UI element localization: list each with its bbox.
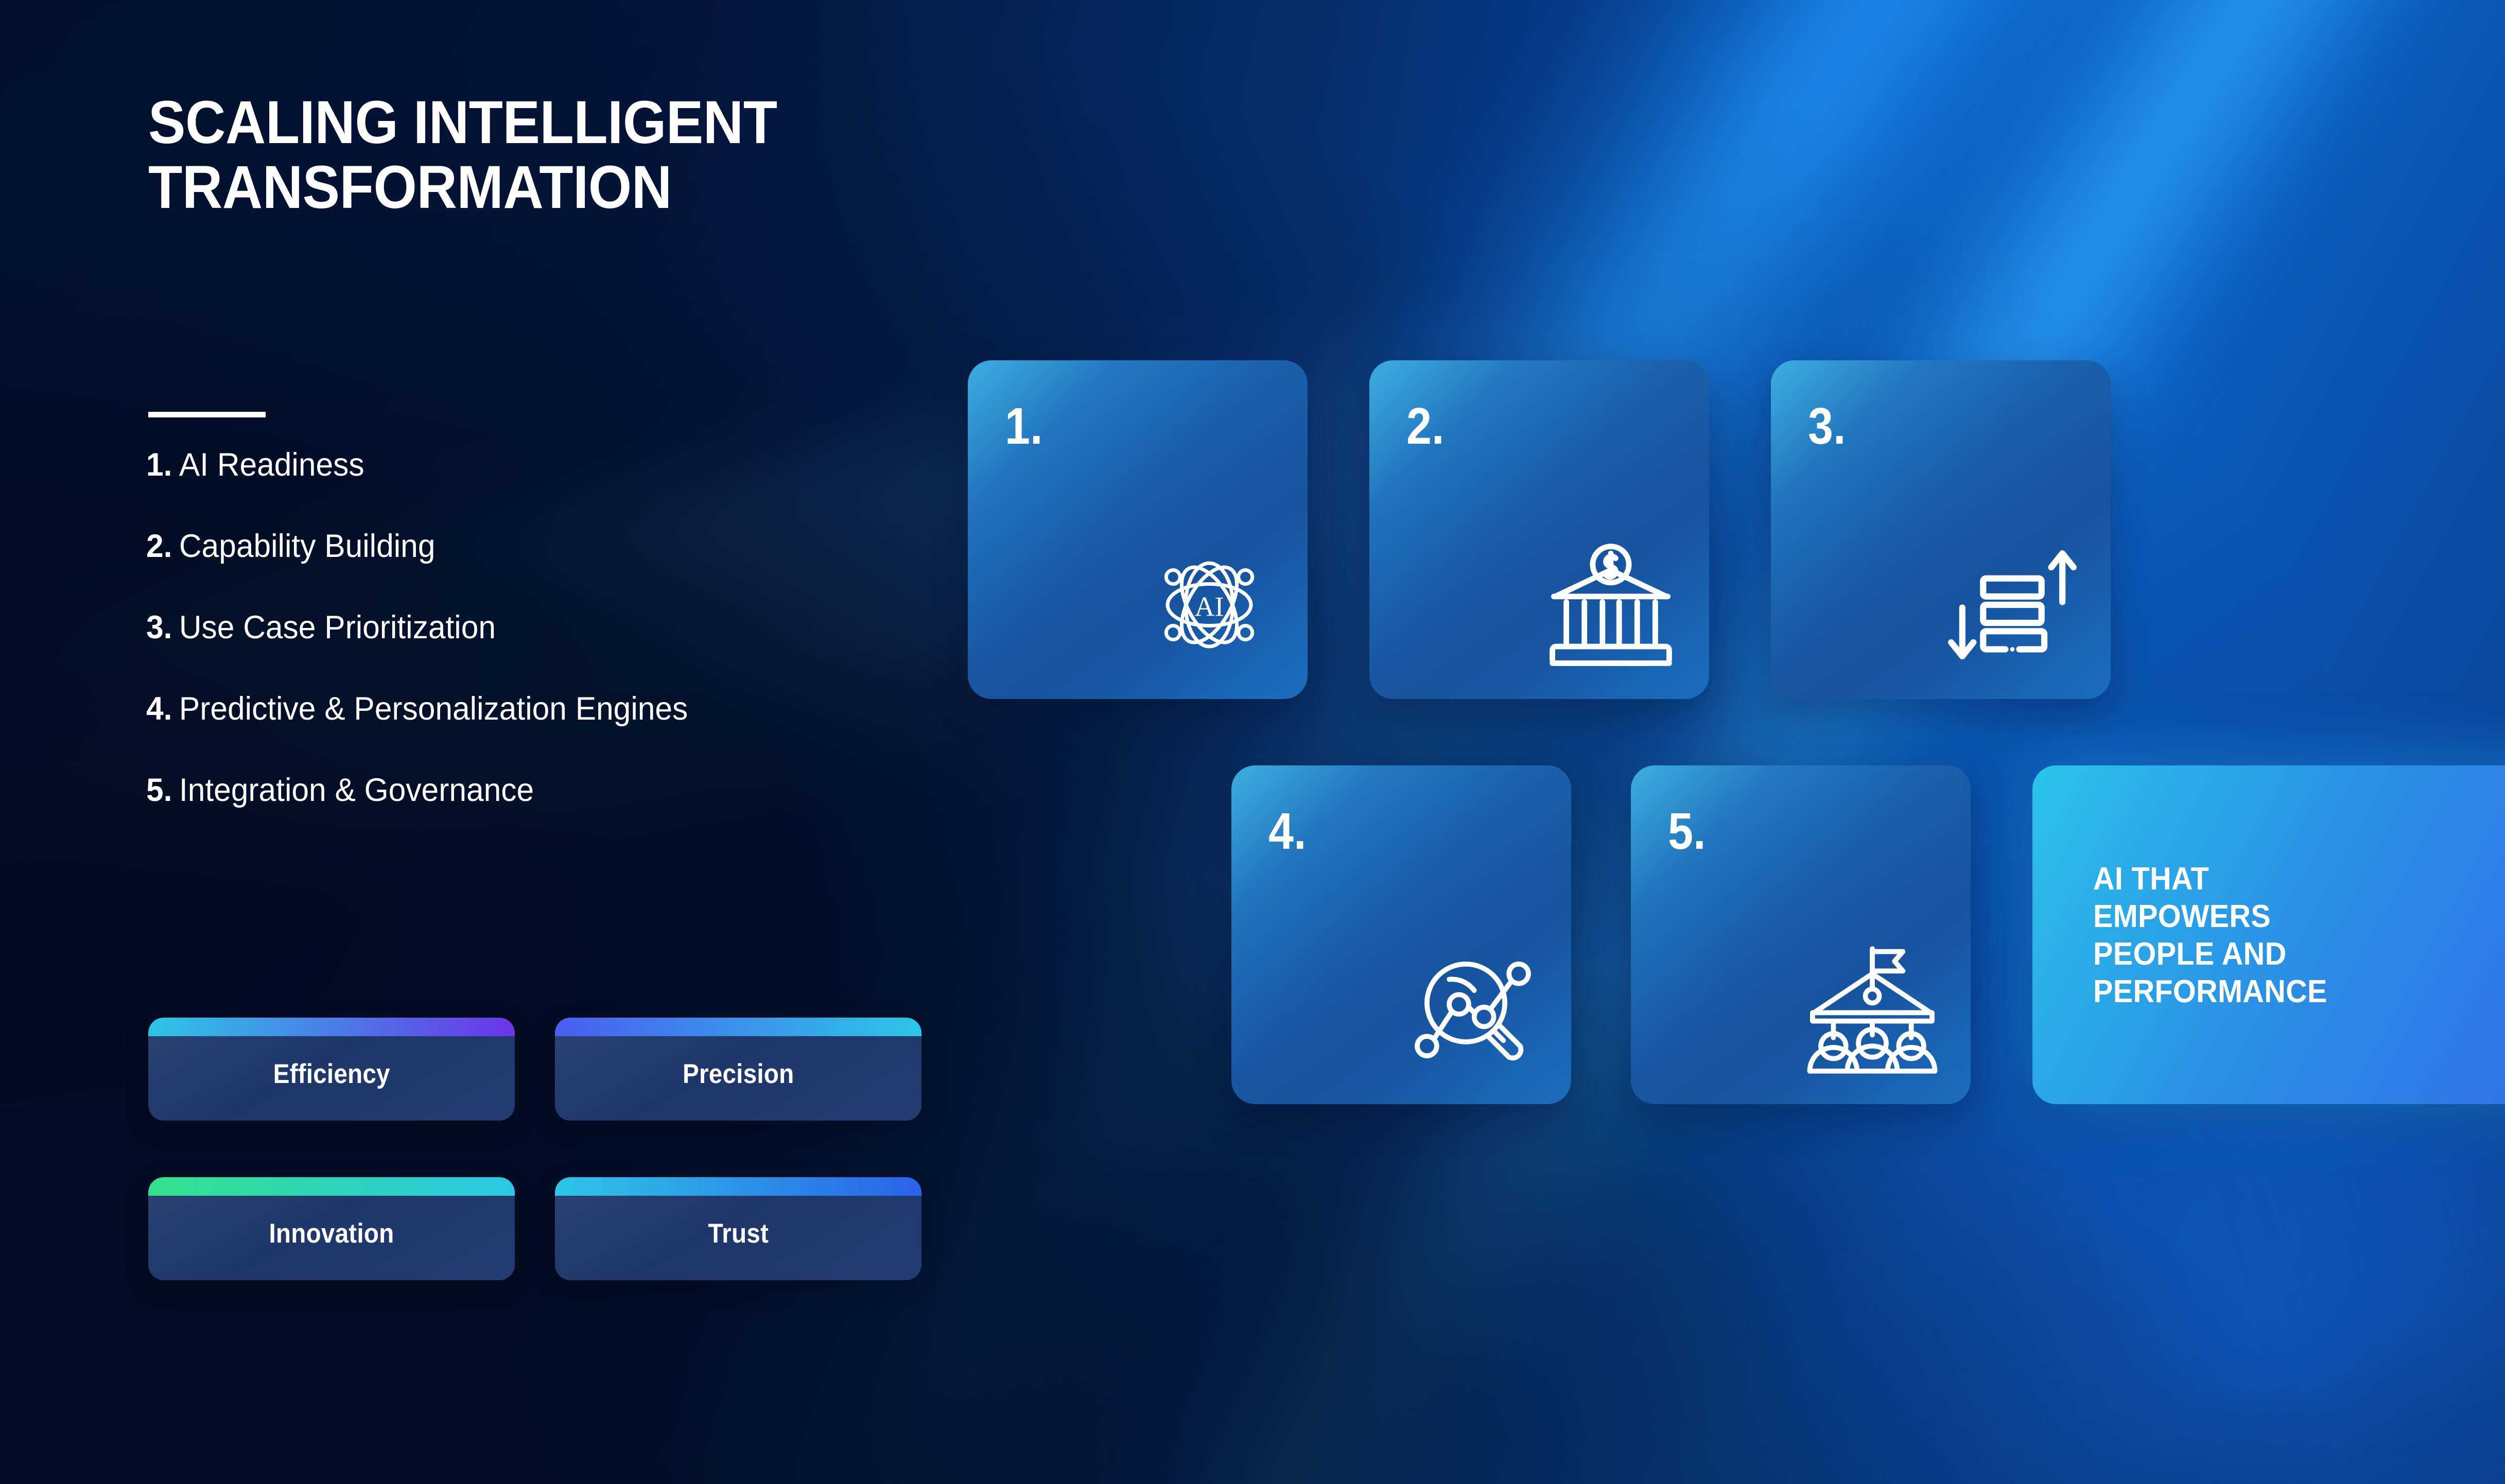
title-block: SCALING INTELLIGENT TRANSFORMATION xyxy=(148,90,1054,220)
list-item: 3.Use Case Prioritization xyxy=(146,612,986,644)
list-item: 2.Capability Building xyxy=(146,530,986,563)
slide-canvas: SCALING INTELLIGENT TRANSFORMATION 1.AI … xyxy=(0,0,2505,1484)
list-item-number: 3. xyxy=(146,609,172,645)
title-divider xyxy=(148,412,266,417)
step-card-5[interactable]: 5. xyxy=(1631,765,1971,1104)
priority-sort-icon xyxy=(1943,535,2082,674)
value-pill-group: Efficiency Precision Innovation Trust xyxy=(148,1018,921,1280)
highlight-panel-headline: AI THAT EMPOWERS PEOPLE AND PERFORMANCE xyxy=(2093,860,2327,1011)
bank-dollar-icon xyxy=(1541,535,1680,674)
roadmap-list: 1.AI Readiness 2.Capability Building 3.U… xyxy=(146,449,1021,856)
pill-accent-bar xyxy=(148,1018,515,1036)
list-item-number: 2. xyxy=(146,528,172,564)
list-item-number: 5. xyxy=(146,772,172,808)
pill-accent-bar xyxy=(148,1177,515,1196)
pill-label: Trust xyxy=(708,1218,769,1249)
list-item-number: 1. xyxy=(146,447,172,483)
pill-label: Efficiency xyxy=(273,1058,390,1090)
pill-accent-bar xyxy=(555,1018,921,1036)
step-card-3[interactable]: 3. xyxy=(1771,360,2111,699)
pill-trust[interactable]: Trust xyxy=(555,1177,921,1280)
list-item-number: 4. xyxy=(146,691,172,727)
pill-label: Innovation xyxy=(269,1218,394,1249)
list-item-label: Integration & Governance xyxy=(179,772,534,808)
governance-people-icon xyxy=(1803,940,1942,1079)
pill-efficiency[interactable]: Efficiency xyxy=(148,1018,515,1121)
list-item-label: AI Readiness xyxy=(179,447,364,483)
list-item-label: Use Case Prioritization xyxy=(179,609,496,645)
ai-atom-icon: AI xyxy=(1140,535,1279,674)
ai-atom-icon-label: AI xyxy=(1195,591,1224,622)
list-item: 4.Predictive & Personalization Engines xyxy=(146,693,986,725)
card-number: 5. xyxy=(1668,806,1706,857)
list-item: 5.Integration & Governance xyxy=(146,774,986,807)
highlight-panel: AI THAT EMPOWERS PEOPLE AND PERFORMANCE xyxy=(2032,765,2505,1104)
data-magnifier-icon xyxy=(1403,940,1542,1079)
list-item-label: Capability Building xyxy=(179,528,436,564)
card-number: 1. xyxy=(1005,400,1042,452)
step-card-2[interactable]: 2. xyxy=(1369,360,1709,699)
card-number: 4. xyxy=(1268,806,1306,857)
step-card-1[interactable]: 1. AI xyxy=(968,360,1308,699)
card-number: 3. xyxy=(1808,400,1846,452)
pill-label: Precision xyxy=(683,1058,794,1090)
page-title: SCALING INTELLIGENT TRANSFORMATION xyxy=(148,90,982,220)
step-card-4[interactable]: 4. xyxy=(1231,765,1571,1104)
list-item: 1.AI Readiness xyxy=(146,449,986,481)
card-number: 2. xyxy=(1406,400,1444,452)
list-item-label: Predictive & Personalization Engines xyxy=(179,691,688,727)
pill-accent-bar xyxy=(555,1177,921,1196)
pill-precision[interactable]: Precision xyxy=(555,1018,921,1121)
pill-innovation[interactable]: Innovation xyxy=(148,1177,515,1280)
